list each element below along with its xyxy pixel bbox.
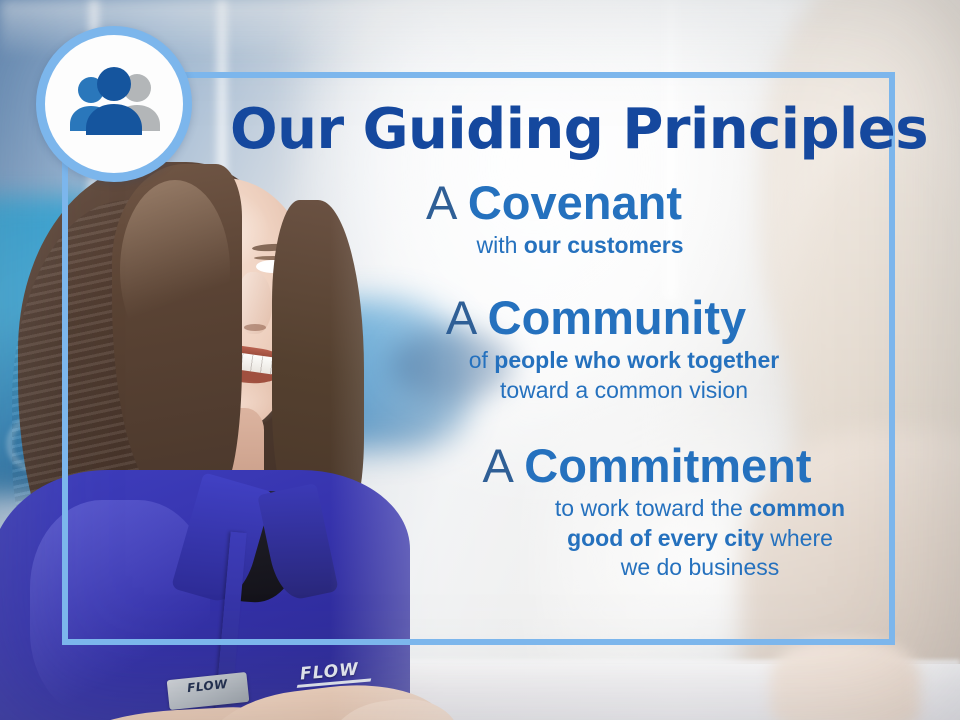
principle-heading: A Community (302, 293, 890, 342)
subtext-line: good of every city where (510, 524, 890, 553)
subtext-bold: people who work together (494, 347, 779, 373)
subtext-line: we do business (510, 553, 890, 582)
blurred-customer-hand (770, 640, 920, 720)
subtext-normal: of (469, 347, 495, 373)
principle-article: A (426, 176, 455, 229)
subtext-normal: we do business (621, 554, 780, 580)
principle-heading: A Commitment (404, 441, 890, 490)
principle-heading: A Covenant (218, 178, 890, 227)
principle-subtext: to work toward the common good of every … (510, 494, 890, 582)
subtext-normal: to work toward the (555, 495, 749, 521)
principle-subtext: with our customers (270, 231, 890, 260)
principle-block-community: A Community of people who work together … (302, 293, 890, 405)
shirt-flow-logo: FLOW (299, 659, 360, 684)
principle-article: A (482, 439, 511, 492)
principle-block-commitment: A Commitment to work toward the common g… (404, 441, 890, 583)
text-column: Our Guiding Principles A Covenant with o… (190, 80, 890, 640)
principle-word: Covenant (468, 176, 682, 229)
guiding-principles-banner: FLOW FLOW Our Guiding Principl (0, 0, 960, 720)
principle-block-covenant: A Covenant with our customers (218, 178, 890, 261)
group-people-badge (36, 26, 192, 182)
subtext-line: toward a common vision (358, 376, 890, 405)
subtext-normal-after: where (764, 525, 833, 551)
subtext-bold: good of every city (567, 525, 764, 551)
principle-word: Community (488, 291, 747, 344)
employee-name-badge-text: FLOW (186, 677, 228, 695)
subtext-bold: our customers (524, 232, 684, 258)
group-people-icon (62, 67, 166, 141)
principle-word: Commitment (524, 439, 811, 492)
subtext-bold: common (749, 495, 845, 521)
principle-article: A (446, 291, 475, 344)
subtext-line: to work toward the common (510, 494, 890, 523)
subtext-normal: with (476, 232, 523, 258)
principle-subtext: of people who work together toward a com… (358, 346, 890, 405)
page-title: Our Guiding Principles (230, 102, 890, 158)
subtext-normal: toward a common vision (500, 377, 748, 403)
subtext-line: of people who work together (358, 346, 890, 375)
